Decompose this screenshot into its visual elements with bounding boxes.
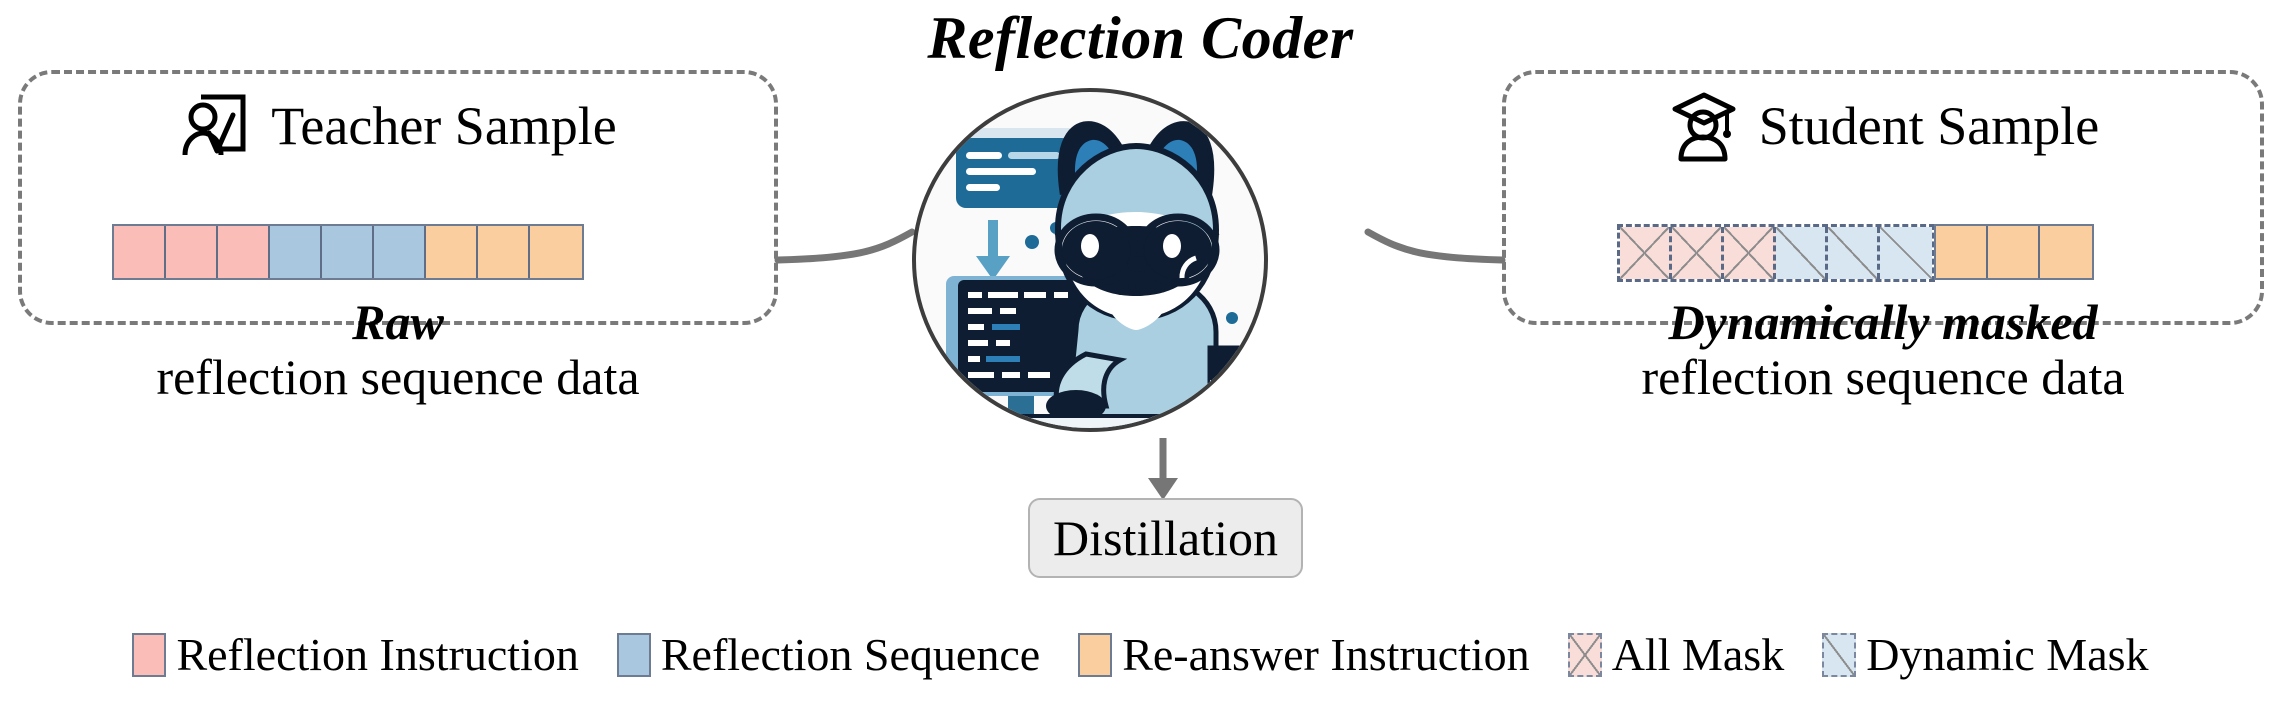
legend-swatch-all-mask xyxy=(1568,633,1602,677)
legend-swatch-dynamic-mask xyxy=(1822,633,1856,677)
legend-item-re-answer-instruction: Re-answer Instruction xyxy=(1078,632,1530,678)
student-caption-sub: reflection sequence data xyxy=(1502,349,2264,405)
legend-label: Dynamic Mask xyxy=(1866,632,2148,678)
student-panel-caption: Dynamically masked reflection sequence d… xyxy=(1502,296,2264,405)
token-cell xyxy=(530,226,582,278)
distillation-box[interactable]: Distillation xyxy=(1028,498,1303,578)
distillation-label: Distillation xyxy=(1053,513,1278,563)
all-mask-segment xyxy=(1617,224,1935,282)
teacher-panel-title: Teacher Sample xyxy=(271,99,617,153)
graduate-student-icon xyxy=(1667,89,1741,163)
legend-label: All Mask xyxy=(1612,632,1785,678)
token-cell xyxy=(218,226,270,278)
token-cell-all-mask xyxy=(1672,227,1724,279)
token-cell xyxy=(114,226,166,278)
legend-swatch-pink xyxy=(132,633,166,677)
legend-label: Reflection Sequence xyxy=(661,632,1040,678)
legend-item-reflection-instruction: Reflection Instruction xyxy=(132,632,578,678)
connector-student-to-mascot xyxy=(1368,232,1502,260)
student-panel-title: Student Sample xyxy=(1759,99,2099,153)
token-cell-all-mask xyxy=(1724,227,1776,279)
token-cell-dynamic-mask xyxy=(1828,227,1880,279)
student-token-strip xyxy=(1617,224,2094,276)
legend-label: Re-answer Instruction xyxy=(1122,632,1530,678)
diagram-canvas: Reflection Coder xyxy=(0,0,2281,709)
token-cell xyxy=(2040,226,2092,278)
teacher-caption-emphasis: Raw xyxy=(18,296,778,349)
page-title: Reflection Coder xyxy=(0,4,2281,73)
token-cell xyxy=(270,226,322,278)
student-panel-header: Student Sample xyxy=(1502,88,2264,164)
unmasked-segment xyxy=(1934,224,2094,280)
token-cell xyxy=(426,226,478,278)
legend-swatch-orange xyxy=(1078,633,1112,677)
teacher-token-strip xyxy=(112,224,584,280)
down-arrow-icon xyxy=(1148,478,1178,500)
student-caption-emphasis: Dynamically masked xyxy=(1502,296,2264,349)
token-cell-dynamic-mask xyxy=(1776,227,1828,279)
legend-item-all-mask: All Mask xyxy=(1568,632,1785,678)
legend: Reflection Instruction Reflection Sequen… xyxy=(0,632,2281,678)
token-cell-dynamic-mask xyxy=(1880,227,1932,279)
token-cell xyxy=(1936,226,1988,278)
token-cell xyxy=(166,226,218,278)
token-cell xyxy=(478,226,530,278)
teacher-caption-sub: reflection sequence data xyxy=(18,349,778,405)
teacher-panel-caption: Raw reflection sequence data xyxy=(18,296,778,405)
raccoon-coder-mascot xyxy=(880,80,1300,440)
teacher-check-icon xyxy=(179,89,253,163)
token-cell xyxy=(1988,226,2040,278)
token-cell-all-mask xyxy=(1620,227,1672,279)
teacher-panel-header: Teacher Sample xyxy=(18,88,778,164)
legend-swatch-blue xyxy=(617,633,651,677)
token-cell xyxy=(374,226,426,278)
token-cell xyxy=(322,226,374,278)
legend-label: Reflection Instruction xyxy=(176,632,578,678)
legend-item-dynamic-mask: Dynamic Mask xyxy=(1822,632,2148,678)
legend-item-reflection-sequence: Reflection Sequence xyxy=(617,632,1040,678)
